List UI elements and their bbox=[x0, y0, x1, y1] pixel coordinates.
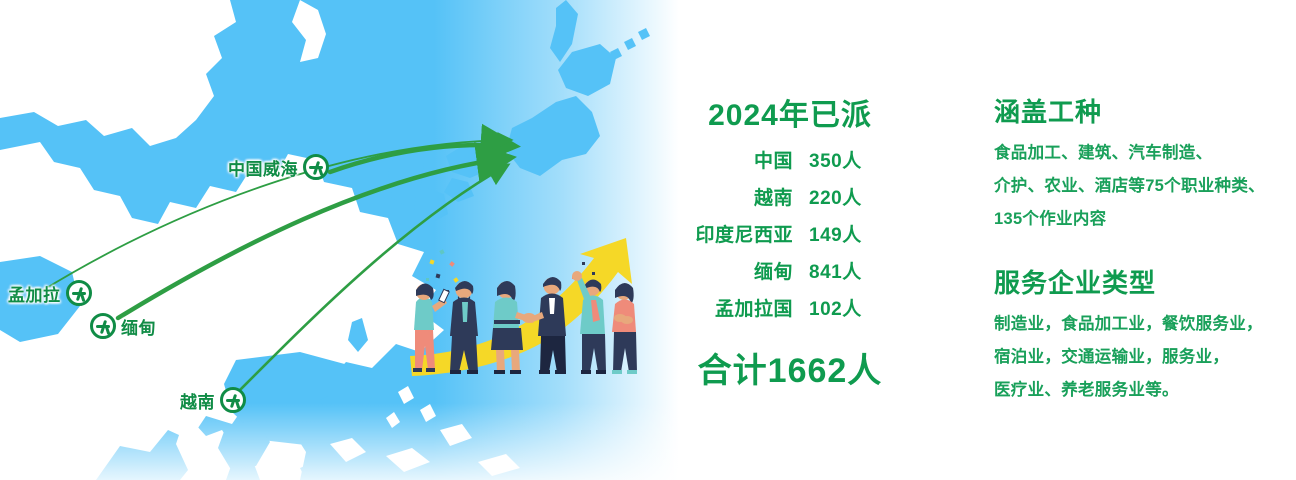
dispatch-stats-panel: 2024年已派 中国 350人 越南 220人 印度尼西亚 149人 缅甸 84… bbox=[640, 90, 940, 392]
stats-country-label: 中国 bbox=[679, 146, 809, 173]
map-marker-myanmar[interactable]: 缅甸 bbox=[90, 313, 156, 339]
stats-row: 印度尼西亚 149人 bbox=[640, 220, 940, 247]
map-marker-weihai[interactable]: 中国威海 bbox=[228, 154, 329, 180]
dispatch-pin-icon bbox=[220, 387, 246, 413]
stats-row: 孟加拉国 102人 bbox=[640, 294, 940, 321]
map-marker-label: 中国威海 bbox=[228, 155, 298, 180]
map-marker-bangladesh[interactable]: 孟加拉 bbox=[8, 280, 92, 306]
company-types-line: 医疗业、养老服务业等。 bbox=[994, 376, 1292, 400]
job-types-line: 135个作业内容 bbox=[994, 205, 1292, 229]
job-types-line: 食品加工、建筑、汽车制造、 bbox=[994, 139, 1292, 163]
company-types-line: 制造业，食品加工业，餐饮服务业， bbox=[994, 310, 1292, 334]
map-marker-vietnam[interactable]: 越南 bbox=[180, 387, 246, 413]
person-figure bbox=[612, 283, 637, 374]
stats-country-label: 印度尼西亚 bbox=[679, 220, 809, 247]
business-people-illustration bbox=[396, 232, 648, 392]
stats-country-value: 350人 bbox=[809, 146, 901, 173]
map-marker-label: 越南 bbox=[180, 388, 215, 413]
stats-title: 2024年已派 bbox=[640, 90, 940, 134]
map-marker-label: 孟加拉 bbox=[8, 281, 61, 306]
dispatch-pin-icon bbox=[90, 313, 116, 339]
map-marker-label: 缅甸 bbox=[121, 314, 156, 339]
company-types-title: 服务企业类型 bbox=[994, 263, 1292, 300]
dispatch-pin-icon bbox=[303, 154, 329, 180]
stats-country-label: 孟加拉国 bbox=[679, 294, 809, 321]
dispatch-pin-icon bbox=[66, 280, 92, 306]
company-types-line: 宿泊业，交通运输业，服务业， bbox=[994, 343, 1292, 367]
company-types-section: 服务企业类型 制造业，食品加工业，餐饮服务业， 宿泊业，交通运输业，服务业， 医… bbox=[994, 263, 1292, 400]
job-types-line: 介护、农业、酒店等75个职业种类、 bbox=[994, 172, 1292, 196]
stats-row: 缅甸 841人 bbox=[640, 257, 940, 284]
stats-country-value: 841人 bbox=[809, 257, 901, 284]
stats-country-label: 缅甸 bbox=[679, 257, 809, 284]
stats-country-value: 149人 bbox=[809, 220, 901, 247]
stats-total: 合计1662人 bbox=[640, 343, 940, 392]
stats-row: 越南 220人 bbox=[640, 183, 940, 210]
stats-country-label: 越南 bbox=[679, 183, 809, 210]
stats-country-value: 220人 bbox=[809, 183, 901, 210]
job-types-title: 涵盖工种 bbox=[994, 92, 1292, 129]
infographic-canvas: 中国威海 孟加拉 缅甸 越南 bbox=[0, 0, 1296, 480]
stats-country-value: 102人 bbox=[809, 294, 901, 321]
info-column: 涵盖工种 食品加工、建筑、汽车制造、 介护、农业、酒店等75个职业种类、 135… bbox=[994, 92, 1292, 409]
stats-row: 中国 350人 bbox=[640, 146, 940, 173]
job-types-section: 涵盖工种 食品加工、建筑、汽车制造、 介护、农业、酒店等75个职业种类、 135… bbox=[994, 92, 1292, 229]
